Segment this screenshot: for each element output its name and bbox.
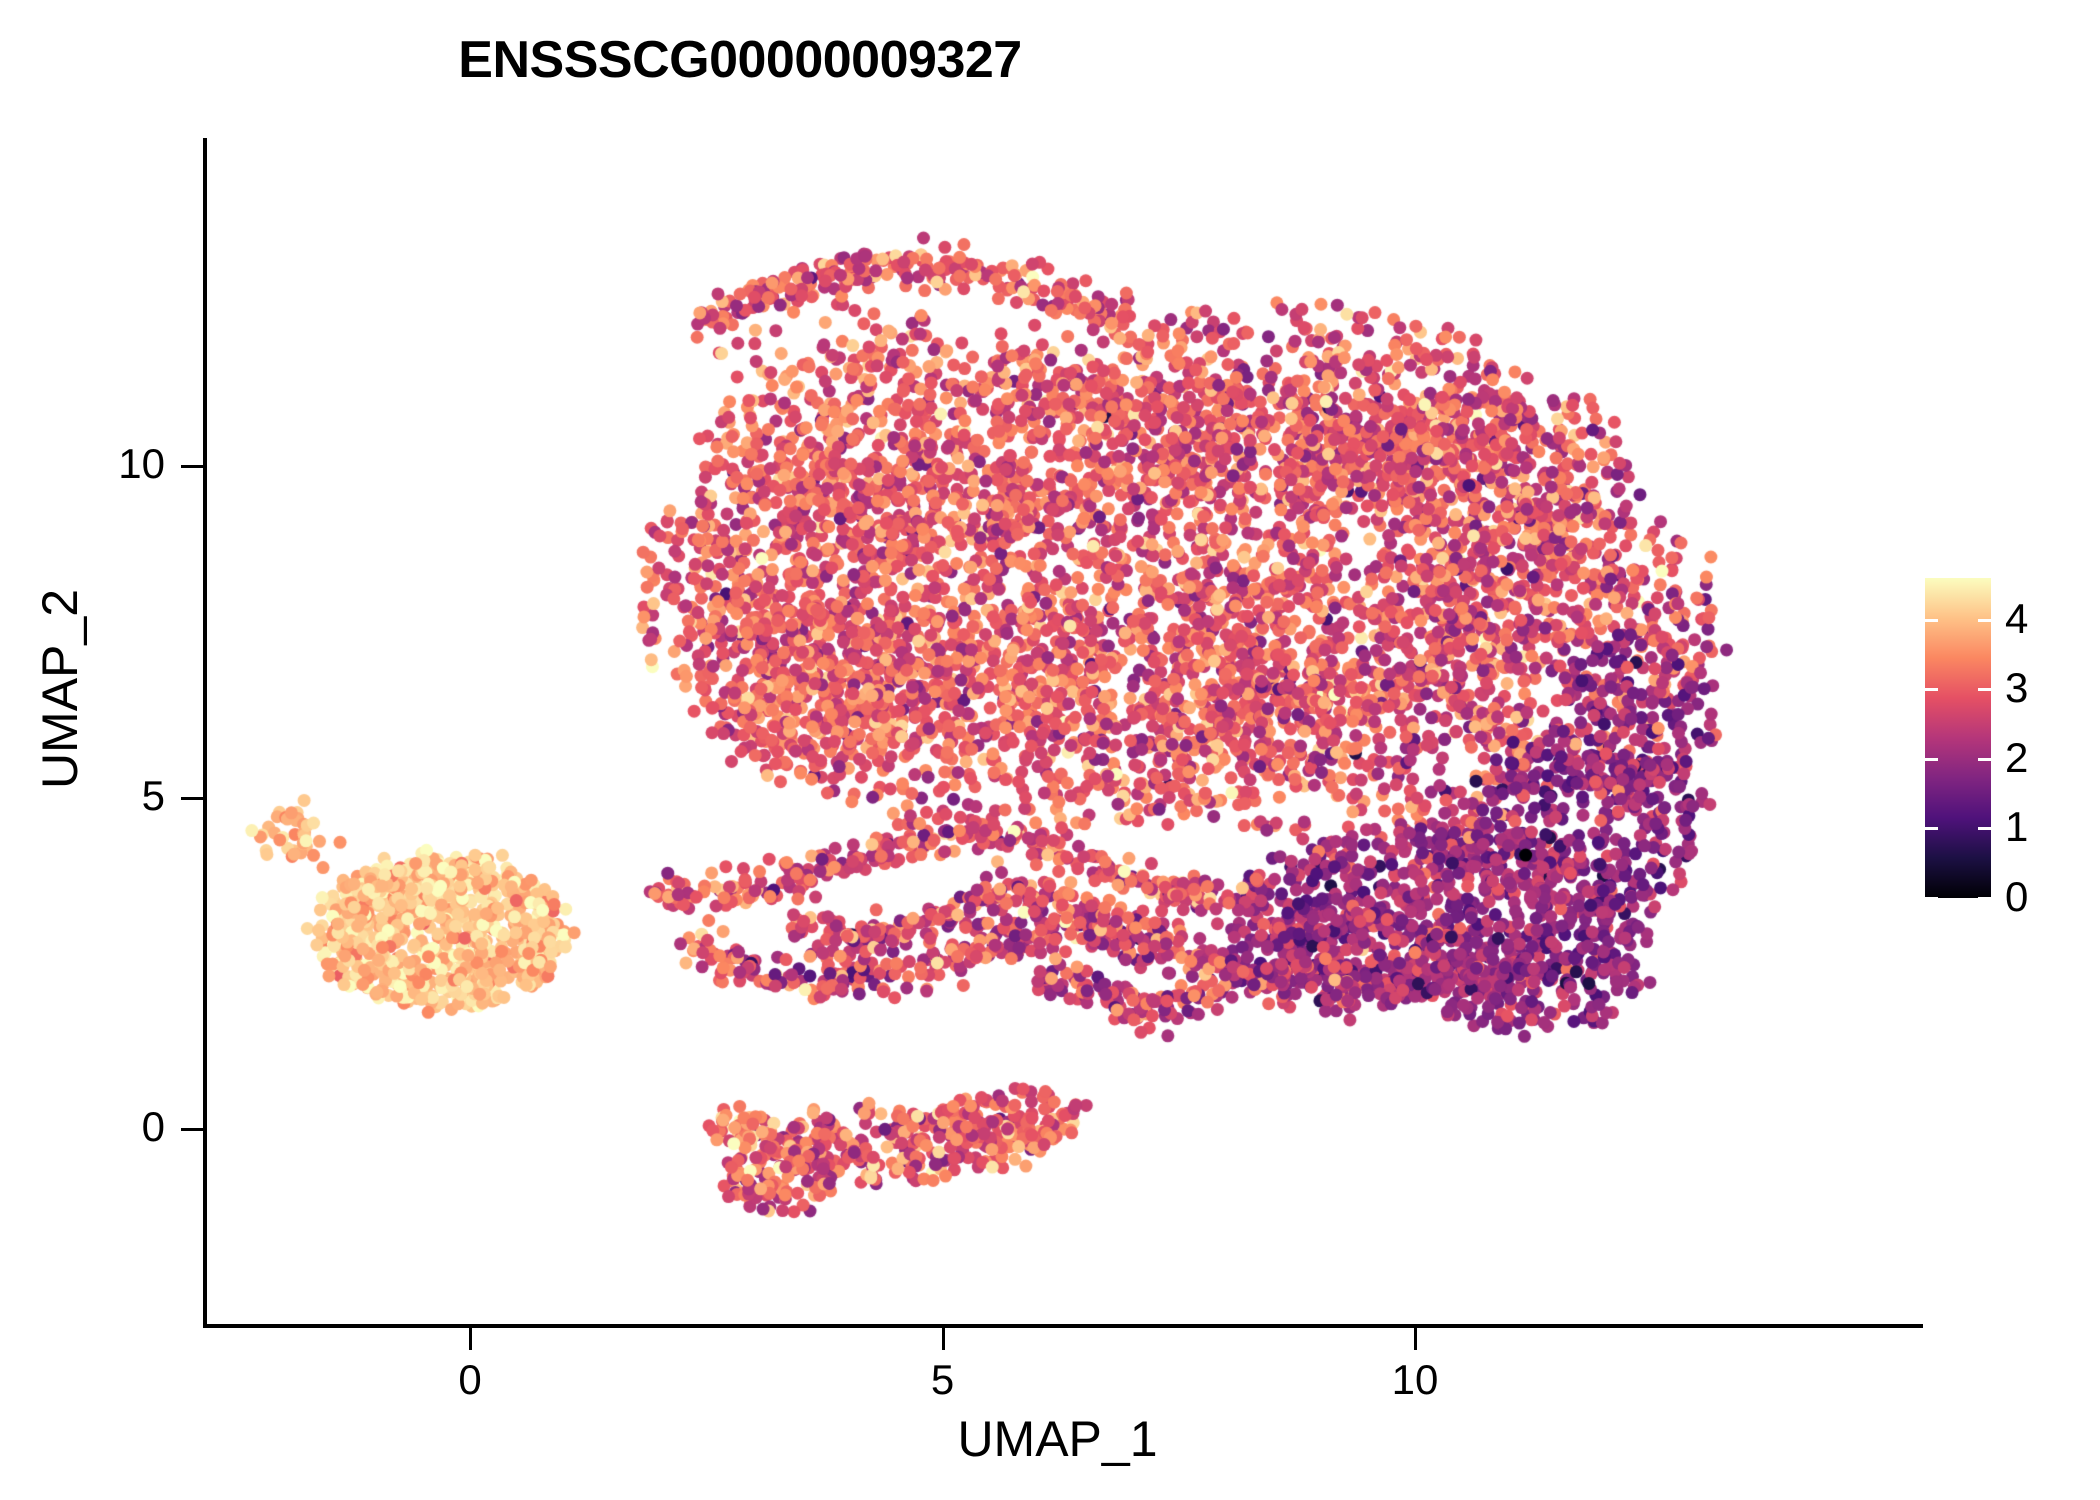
colorbar-tick-mark	[1925, 758, 1938, 761]
colorbar-tick-label: 1	[2005, 806, 2028, 848]
y-tick-mark	[181, 797, 203, 800]
x-tick-label: 10	[1355, 1356, 1475, 1404]
colorbar-tick-mark	[1925, 688, 1938, 691]
x-tick-mark	[1414, 1328, 1417, 1350]
y-axis-title: UMAP_2	[31, 429, 89, 949]
colorbar-tick-label: 2	[2005, 737, 2028, 779]
umap-feature-plot: ENSSSCG00000009327 05100510 UMAP_1 UMAP_…	[0, 0, 2100, 1500]
y-axis-line	[203, 138, 207, 1328]
colorbar-tick-label: 0	[2005, 876, 2028, 918]
colorbar-tick-mark	[1925, 897, 1938, 900]
y-tick-label: 10	[118, 440, 165, 488]
colorbar-tick-label: 3	[2005, 667, 2028, 709]
colorbar-tick-mark	[1978, 827, 1991, 830]
colorbar-tick-mark	[1978, 619, 1991, 622]
y-tick-mark	[181, 1128, 203, 1131]
x-tick-mark	[469, 1328, 472, 1350]
x-tick-mark	[942, 1328, 945, 1350]
y-tick-label: 5	[142, 772, 165, 820]
colorbar-tick-mark	[1978, 688, 1991, 691]
y-tick-mark	[181, 465, 203, 468]
y-tick-label: 0	[142, 1103, 165, 1151]
colorbar-legend: 01234	[1925, 578, 2085, 908]
x-axis-line	[203, 1324, 1923, 1328]
page-title: ENSSSCG00000009327	[0, 30, 1480, 90]
colorbar-tick-mark	[1925, 827, 1938, 830]
colorbar-tick-label: 4	[2005, 598, 2028, 640]
colorbar-tick-mark	[1978, 758, 1991, 761]
scatter-points-canvas	[205, 138, 1910, 1325]
x-tick-label: 0	[410, 1356, 530, 1404]
x-axis-title: UMAP_1	[205, 1410, 1910, 1468]
colorbar-gradient	[1925, 578, 1991, 898]
x-tick-label: 5	[883, 1356, 1003, 1404]
plot-panel	[205, 138, 1910, 1325]
colorbar-tick-mark	[1925, 619, 1938, 622]
colorbar-tick-mark	[1978, 897, 1991, 900]
